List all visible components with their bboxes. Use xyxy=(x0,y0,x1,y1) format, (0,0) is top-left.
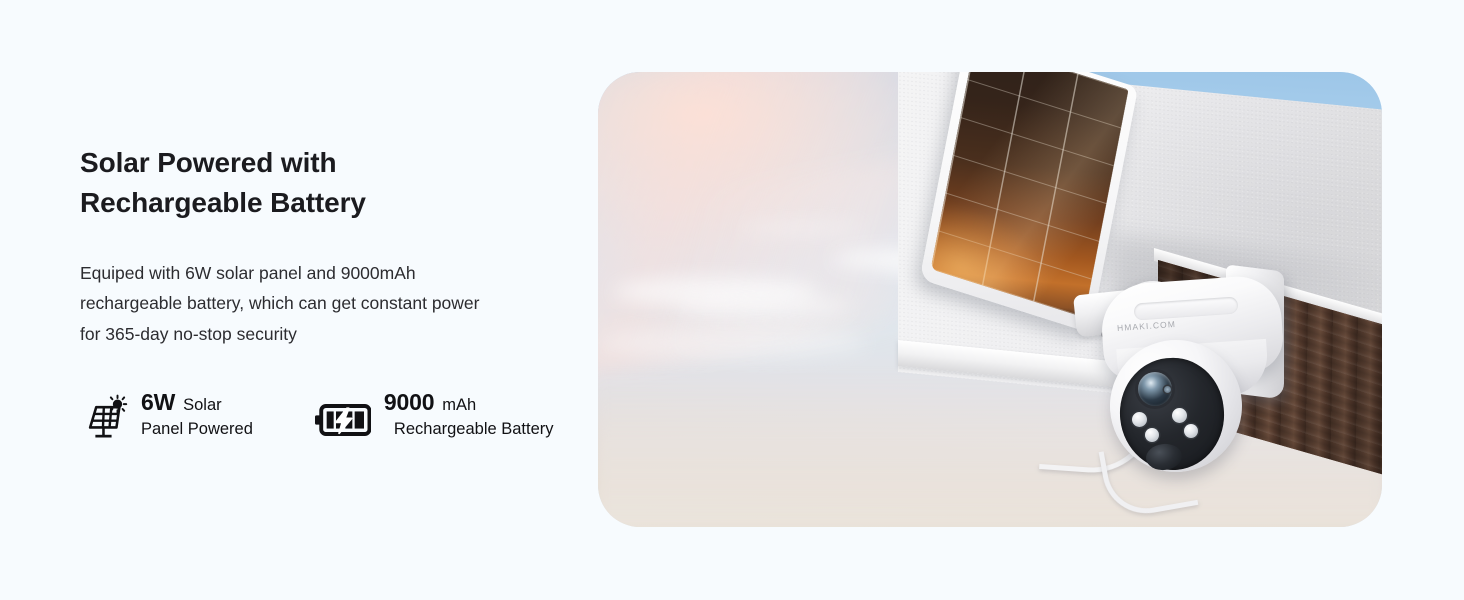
copy-block: Solar Powered with Rechargeable Battery … xyxy=(80,143,550,350)
spec-value-solar: 6W xyxy=(141,390,175,415)
ir-led xyxy=(1145,428,1159,442)
battery-charging-icon xyxy=(315,398,371,442)
ir-led xyxy=(1172,408,1187,423)
cloud xyxy=(598,327,865,359)
cloud xyxy=(676,295,848,318)
spec-desc-battery: Rechargeable Battery xyxy=(384,418,554,440)
spec-unit-battery: mAh xyxy=(442,396,476,414)
body-text: Equiped with 6W solar panel and 9000mAh … xyxy=(80,223,500,350)
ir-led xyxy=(1132,412,1147,427)
product-image: HMAKI.COM xyxy=(598,72,1382,527)
spec-badge-battery: 9000 mAh Rechargeable Battery xyxy=(315,390,554,442)
solar-panel-icon xyxy=(80,394,128,442)
status-sensor xyxy=(1164,386,1171,393)
spec-unit-solar: Solar xyxy=(183,396,222,414)
feature-panel: Solar Powered with Rechargeable Battery … xyxy=(0,0,1464,600)
spec-badge-solar: 6W Solar Panel Powered xyxy=(80,390,253,442)
spec-text-battery: 9000 mAh Rechargeable Battery xyxy=(384,390,554,441)
spec-desc-solar: Panel Powered xyxy=(141,418,253,440)
page-title: Solar Powered with Rechargeable Battery xyxy=(80,143,550,223)
spec-text-solar: 6W Solar Panel Powered xyxy=(141,390,253,441)
spec-value-battery: 9000 xyxy=(384,390,434,415)
cloud xyxy=(739,222,864,234)
spec-badge-list: 6W Solar Panel Powered xyxy=(80,390,554,442)
